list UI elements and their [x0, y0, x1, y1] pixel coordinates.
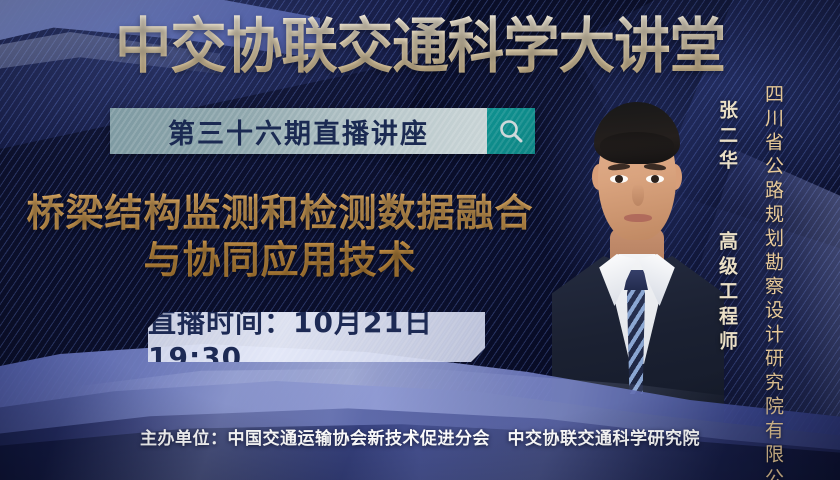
speaker-name-vertical: 张二华 高级工程师 — [714, 100, 741, 356]
speaker-organization-vertical: 四川省公路规划勘察设计研究院有限公司 — [760, 84, 787, 480]
lecture-topic-line-2: 与协同应用技术 — [20, 237, 540, 284]
search-icon-box[interactable] — [487, 108, 535, 154]
portrait-hair — [594, 102, 680, 164]
page-title: 中交协联交通科学大讲堂 — [25, 14, 815, 80]
speaker-portrait — [548, 78, 724, 408]
search-icon — [497, 117, 525, 145]
portrait-mouth — [624, 214, 652, 222]
portrait-eye-left — [610, 175, 628, 183]
broadcast-time-plate: 直播时间：10月21日19:30 — [148, 312, 485, 362]
session-bar: 第三十六期直播讲座 — [110, 108, 535, 154]
session-label-container: 第三十六期直播讲座 — [110, 108, 487, 154]
footer-organizers: 主办单位：中国交通运输协会新技术促进分会 中交协联交通科学研究院 — [0, 424, 840, 449]
live-lecture-poster: 中交协联交通科学大讲堂 第三十六期直播讲座 桥梁结构监测和检测数据融合 与协同应… — [0, 0, 840, 480]
lecture-topic-line-1: 桥梁结构监测和检测数据融合 — [20, 190, 540, 237]
lecture-topic: 桥梁结构监测和检测数据融合 与协同应用技术 — [20, 190, 540, 284]
portrait-nose — [632, 184, 644, 206]
portrait-eye-right — [646, 175, 664, 183]
session-label: 第三十六期直播讲座 — [168, 112, 429, 151]
